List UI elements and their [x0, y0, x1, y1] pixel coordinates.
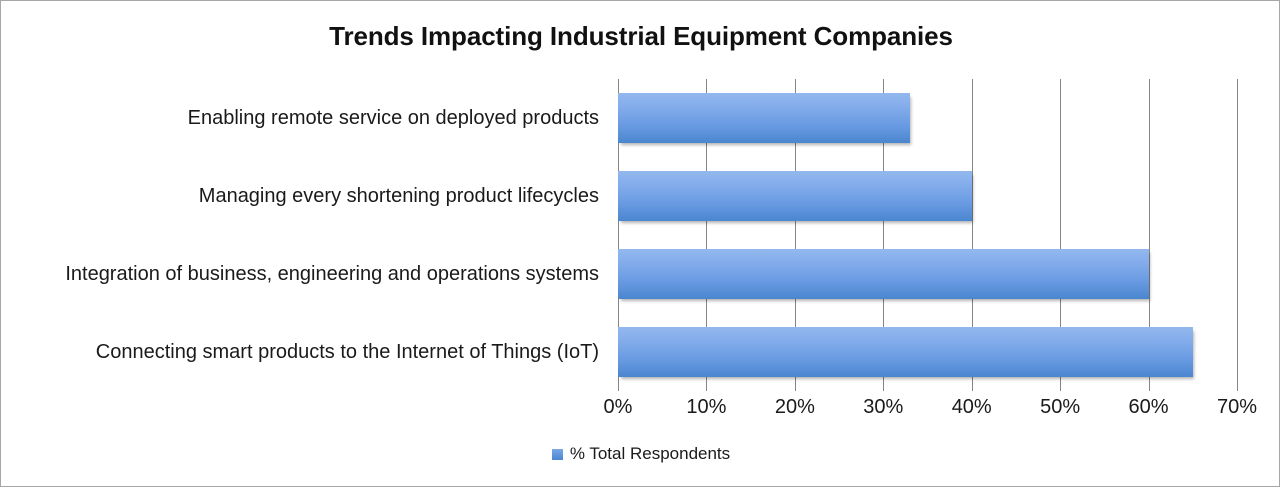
category-label-2: Integration of business, engineering and…: [1, 264, 599, 284]
chart-title: Trends Impacting Industrial Equipment Co…: [1, 21, 1280, 52]
chart-container: Trends Impacting Industrial Equipment Co…: [0, 0, 1280, 487]
xtick-label-4: 40%: [952, 396, 992, 419]
xtick-label-1: 10%: [686, 396, 726, 419]
category-label-1: Managing every shortening product lifecy…: [1, 186, 599, 206]
legend-swatch-icon: [552, 449, 563, 460]
legend-label: % Total Respondents: [570, 444, 730, 464]
xtick-label-5: 50%: [1040, 396, 1080, 419]
xtick-label-2: 20%: [775, 396, 815, 419]
xtick-label-6: 60%: [1129, 396, 1169, 419]
bar-0[interactable]: [618, 93, 910, 143]
gridline-70pct: [1237, 79, 1238, 391]
bar-1[interactable]: [618, 171, 972, 221]
bar-3[interactable]: [618, 327, 1193, 377]
xtick-label-7: 70%: [1217, 396, 1257, 419]
chart-legend: % Total Respondents: [1, 444, 1280, 464]
category-axis-labels: Enabling remote service on deployed prod…: [1, 79, 599, 391]
bar-2[interactable]: [618, 249, 1149, 299]
xtick-label-3: 30%: [863, 396, 903, 419]
xtick-label-0: 0%: [604, 396, 633, 419]
category-label-3: Connecting smart products to the Interne…: [1, 342, 599, 362]
category-label-0: Enabling remote service on deployed prod…: [1, 108, 599, 128]
plot-area: [618, 79, 1237, 391]
